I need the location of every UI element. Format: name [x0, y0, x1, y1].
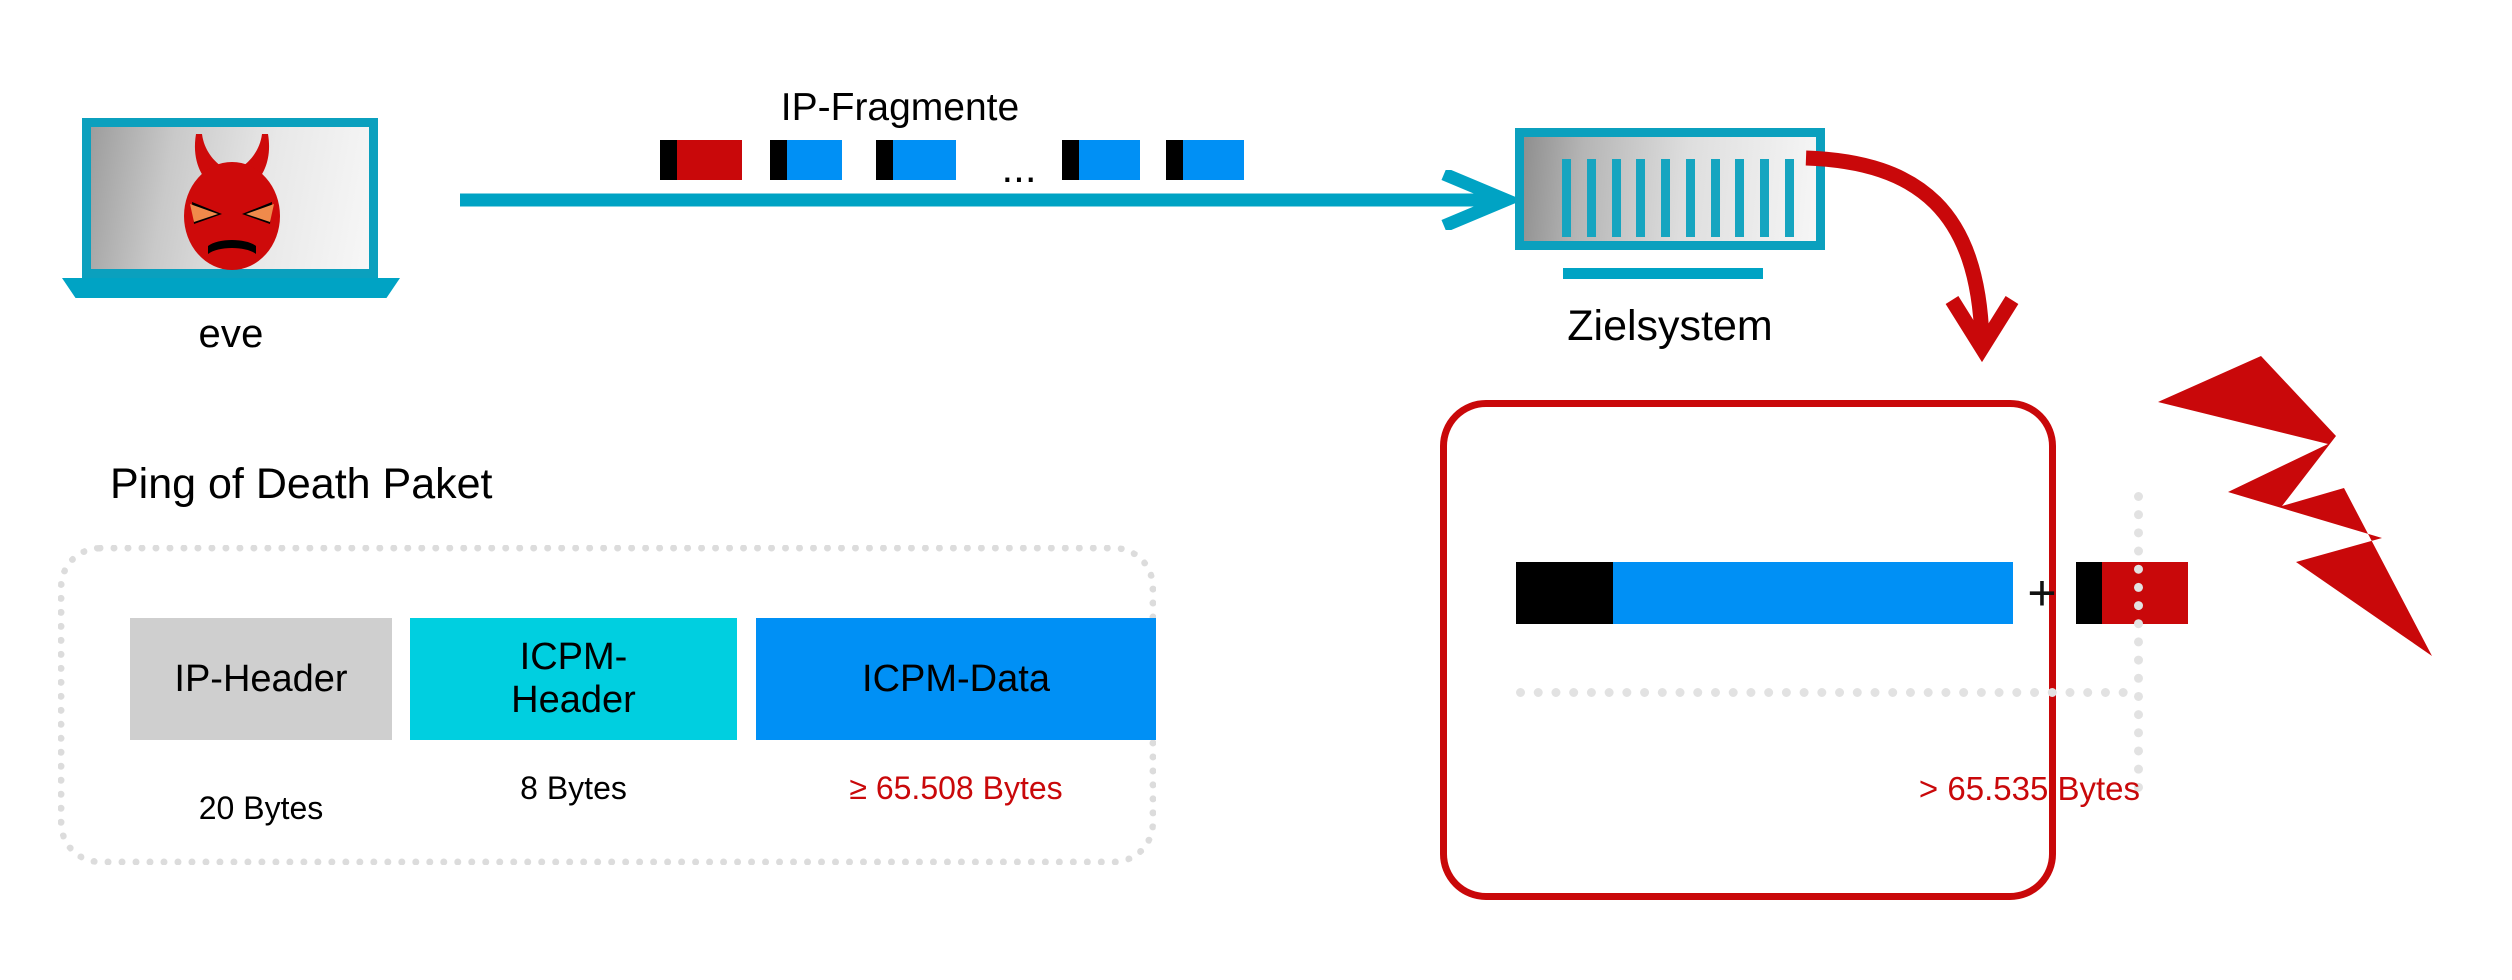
curved-arrow-down-icon: [1800, 150, 2180, 420]
ip-fragment: [1062, 140, 1140, 180]
overflow-outline: [1440, 400, 2056, 900]
laptop-base: [62, 278, 400, 298]
lightning-bolt-icon: [2130, 340, 2480, 670]
plus-symbol: +: [2018, 560, 2066, 626]
byte-size-icmp-data: ≥ 65.508 Bytes: [756, 770, 1156, 807]
packet-block-label-line2: Header: [511, 679, 636, 722]
reassembled-packet-payload: [1613, 562, 2013, 624]
packet-block-icmp-data: ICPM-Data: [756, 618, 1156, 740]
overflow-size-label: > 65.535 Bytes: [1760, 770, 2140, 808]
attacker-label: eve: [62, 312, 400, 357]
packet-block-icmp-header: ICPM- Header: [410, 618, 737, 740]
byte-size-ip-header: 20 Bytes: [130, 790, 392, 827]
packet-block-ip-header: IP-Header: [130, 618, 392, 740]
devil-face-icon: [162, 128, 302, 274]
reassembled-packet-header: [1516, 562, 1613, 624]
fragments-ellipsis: ...: [984, 140, 1054, 180]
ip-fragment: [876, 140, 956, 180]
byte-size-icmp-header: 8 Bytes: [410, 770, 737, 807]
buffer-limit-horizontal-line: [1516, 688, 2128, 697]
overflow-fragment-header: [2076, 562, 2102, 624]
packet-block-label: ICPM-Data: [862, 658, 1050, 701]
packet-block-label-line1: ICPM-: [511, 636, 636, 679]
ip-fragment: [770, 140, 842, 180]
fragments-label: IP-Fragmente: [640, 86, 1160, 130]
ip-fragment: [660, 140, 742, 180]
diagram-canvas: eve IP-Fragmente ... Zielsystem Ping of …: [0, 0, 2512, 980]
packet-block-label: IP-Header: [174, 658, 347, 701]
server-bars: [1562, 159, 1794, 237]
page-title: Ping of Death Paket: [110, 460, 492, 509]
ip-fragment: [1166, 140, 1244, 180]
server-icon: [1515, 128, 1825, 250]
server-base: [1563, 268, 1763, 279]
